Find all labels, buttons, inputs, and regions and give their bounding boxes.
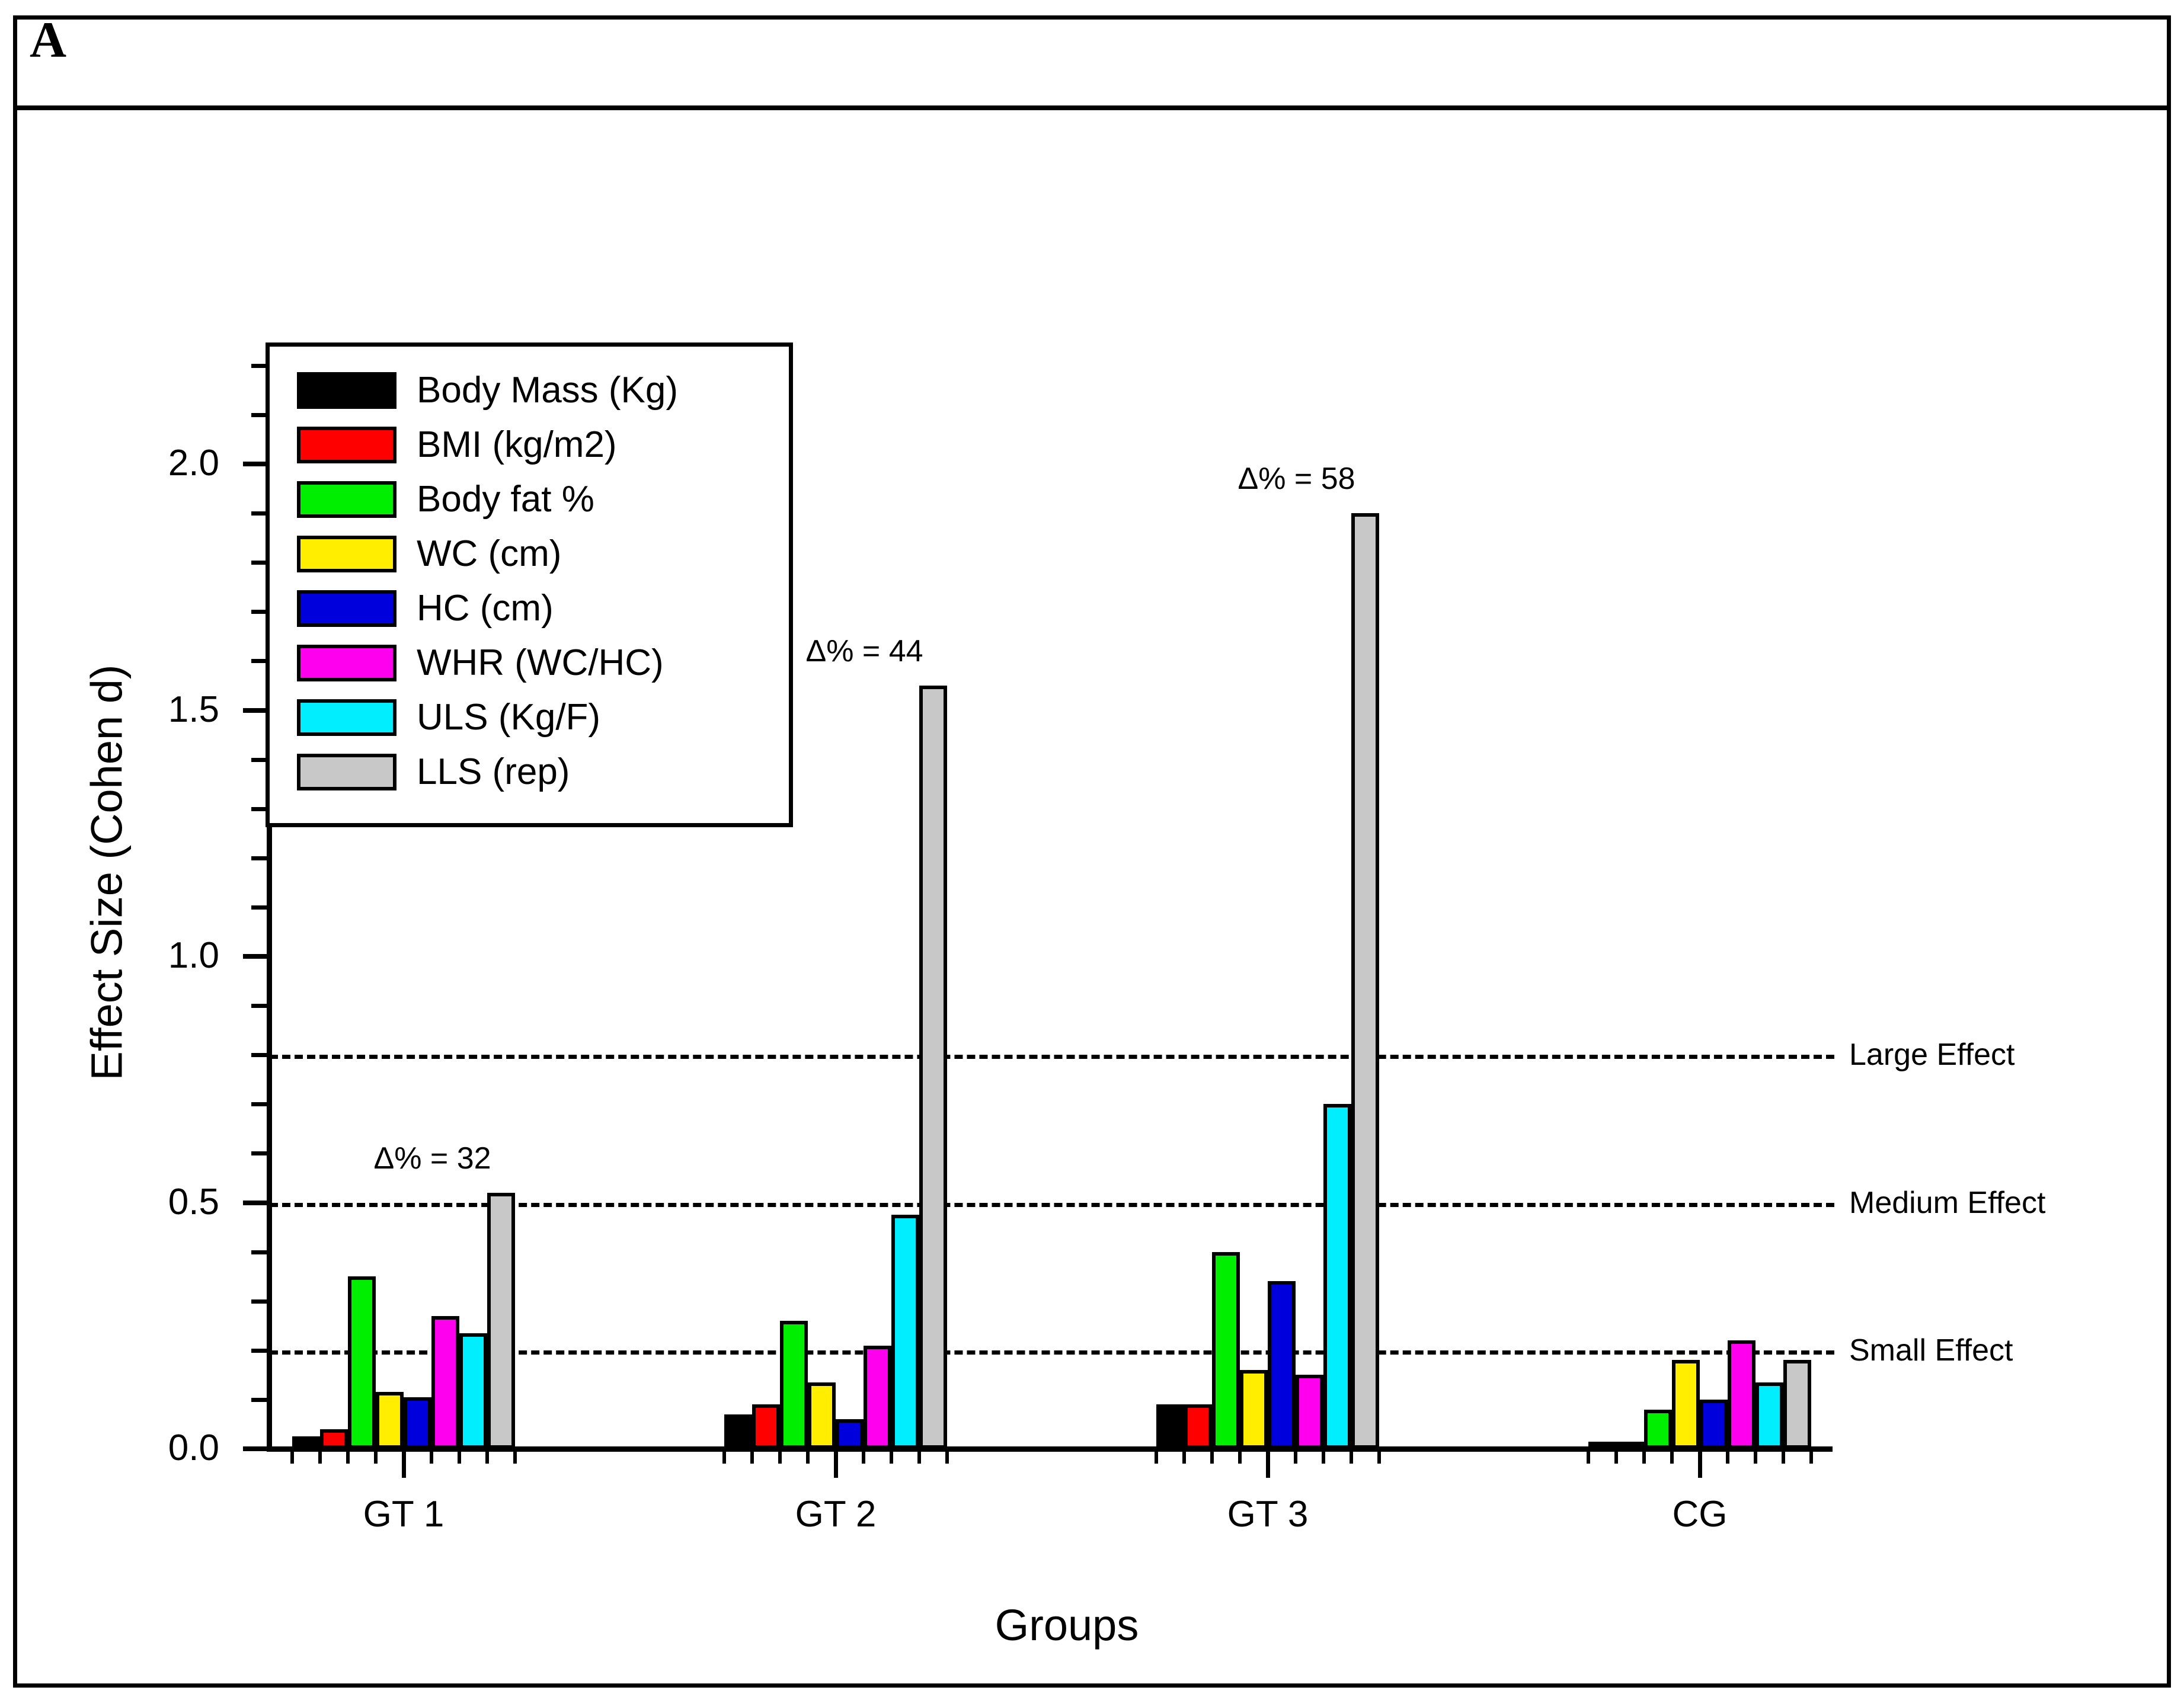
x-tick-minor: [834, 1452, 837, 1464]
x-tick-minor: [1726, 1452, 1729, 1464]
legend-item-label: BMI (kg/m2): [417, 427, 617, 463]
bar: [1755, 1382, 1783, 1449]
x-tick-minor: [430, 1452, 433, 1464]
chart-plot-area: 0.00.51.01.52.0 GT 1GT 2GT 3CG Large Eff…: [0, 0, 2184, 1703]
legend-color-swatch: [297, 699, 396, 736]
legend-item[interactable]: WHR (WC/HC): [297, 636, 789, 690]
legend-item-label: WC (cm): [417, 536, 561, 572]
bar: [292, 1436, 320, 1449]
x-tick-minor: [806, 1452, 810, 1464]
bar: [808, 1382, 836, 1449]
x-tick-minor: [1182, 1452, 1186, 1464]
x-axis-title: Groups: [711, 1600, 1422, 1650]
bar: [1184, 1404, 1212, 1449]
x-tick-minor: [1587, 1452, 1590, 1464]
chart-legend: Body Mass (Kg)BMI (kg/m2)Body fat %WC (c…: [266, 342, 793, 827]
legend-item-label: LLS (rep): [417, 754, 570, 790]
x-tick-label-gt-1: GT 1: [297, 1493, 510, 1535]
bar: [1323, 1104, 1351, 1449]
x-tick-minor: [458, 1452, 461, 1464]
legend-item-label: Body fat %: [417, 481, 594, 518]
bar: [1156, 1404, 1184, 1449]
legend-item[interactable]: Body fat %: [297, 472, 789, 527]
bar: [487, 1193, 515, 1449]
x-tick-minor: [1266, 1452, 1270, 1464]
bar: [376, 1392, 404, 1449]
x-tick-label-cg: CG: [1593, 1493, 1806, 1535]
bar: [348, 1276, 376, 1449]
legend-color-swatch: [297, 536, 396, 572]
bar: [1700, 1400, 1728, 1449]
legend-item-label: HC (cm): [417, 590, 554, 627]
bar: [724, 1414, 752, 1449]
x-tick-minor: [1238, 1452, 1242, 1464]
x-tick-minor: [513, 1452, 517, 1464]
x-tick-minor: [1754, 1452, 1757, 1464]
legend-color-swatch: [297, 372, 396, 409]
x-tick-minor: [1670, 1452, 1674, 1464]
x-tick-minor: [890, 1452, 893, 1464]
bar: [891, 1215, 919, 1449]
legend-item[interactable]: WC (cm): [297, 527, 789, 581]
legend-color-swatch: [297, 645, 396, 681]
x-tick-minor: [917, 1452, 921, 1464]
legend-color-swatch: [297, 427, 396, 463]
bar: [1212, 1252, 1240, 1449]
x-tick-minor: [374, 1452, 378, 1464]
delta-annotation: Δ% = 44: [806, 633, 923, 669]
legend-item[interactable]: HC (cm): [297, 581, 789, 636]
bar: [1616, 1442, 1644, 1449]
x-tick-minor: [346, 1452, 350, 1464]
x-tick-minor: [1155, 1452, 1158, 1464]
legend-item[interactable]: LLS (rep): [297, 745, 789, 799]
bar: [1296, 1375, 1323, 1449]
bar: [836, 1419, 864, 1449]
x-tick-label-gt-3: GT 3: [1161, 1493, 1374, 1535]
bar: [752, 1404, 780, 1449]
bar: [1783, 1360, 1811, 1449]
bar: [1268, 1281, 1296, 1449]
legend-item-label: Body Mass (Kg): [417, 372, 678, 409]
bar: [431, 1316, 459, 1449]
bar: [404, 1397, 431, 1449]
x-tick-minor: [485, 1452, 489, 1464]
x-tick-minor: [945, 1452, 949, 1464]
bar: [1644, 1410, 1672, 1449]
x-tick-minor: [862, 1452, 865, 1464]
legend-item[interactable]: BMI (kg/m2): [297, 418, 789, 472]
x-tick-minor: [318, 1452, 322, 1464]
x-tick-minor: [1809, 1452, 1813, 1464]
legend-item[interactable]: ULS (Kg/F): [297, 690, 789, 745]
x-tick-minor: [1782, 1452, 1785, 1464]
y-axis-title: Effect Size (Cohen d): [82, 458, 132, 1288]
x-tick-minor: [402, 1452, 405, 1464]
x-tick-minor: [1614, 1452, 1618, 1464]
x-tick-minor: [1322, 1452, 1325, 1464]
x-tick-minor: [290, 1452, 294, 1464]
legend-color-swatch: [297, 754, 396, 790]
bar: [1240, 1370, 1268, 1449]
x-tick-minor: [1210, 1452, 1214, 1464]
legend-item[interactable]: Body Mass (Kg): [297, 363, 789, 418]
x-tick-minor: [750, 1452, 754, 1464]
bar: [864, 1346, 891, 1449]
delta-annotation: Δ% = 32: [374, 1141, 491, 1176]
bar: [919, 686, 947, 1449]
bar: [320, 1429, 348, 1449]
legend-item-label: ULS (Kg/F): [417, 699, 600, 736]
x-tick-minor: [1377, 1452, 1381, 1464]
bar: [1672, 1360, 1700, 1449]
x-tick-minor: [1294, 1452, 1297, 1464]
bar: [1728, 1340, 1755, 1449]
figure-panel-a: A 0.00.51.01.52.0 GT 1GT 2GT 3CG Large E…: [0, 0, 2184, 1703]
x-tick-minor: [722, 1452, 726, 1464]
legend-color-swatch: [297, 590, 396, 627]
x-tick-minor: [1642, 1452, 1646, 1464]
x-tick-minor: [1350, 1452, 1353, 1464]
x-tick-label-gt-2: GT 2: [729, 1493, 942, 1535]
bar: [780, 1321, 808, 1449]
bar: [1351, 513, 1379, 1449]
delta-annotation: Δ% = 58: [1238, 461, 1355, 497]
legend-color-swatch: [297, 481, 396, 518]
legend-item-label: WHR (WC/HC): [417, 645, 664, 681]
bar: [1588, 1442, 1616, 1449]
bar: [459, 1333, 487, 1449]
x-tick-minor: [778, 1452, 782, 1464]
x-tick-minor: [1698, 1452, 1702, 1464]
